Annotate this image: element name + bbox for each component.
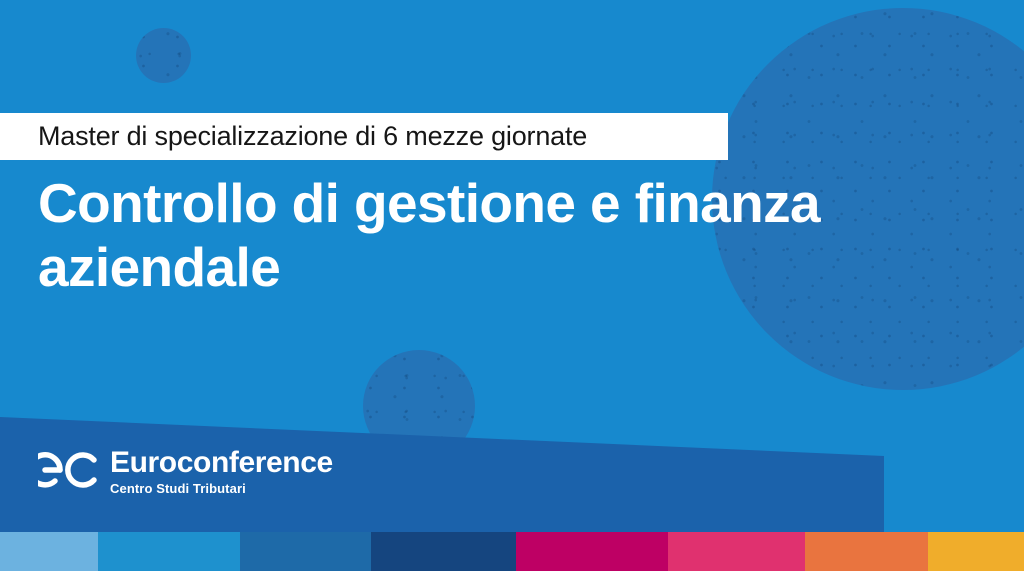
color-swatch-pink xyxy=(668,532,805,571)
color-swatch-medium-blue xyxy=(240,532,371,571)
course-title: Controllo di gestione e finanza aziendal… xyxy=(38,172,918,300)
course-promo-banner: Master di specializzazione di 6 mezze gi… xyxy=(0,0,1024,571)
logo-wordmark: Euroconference Centro Studi Tributari xyxy=(110,448,333,495)
subtitle-banner: Master di specializzazione di 6 mezze gi… xyxy=(0,113,728,160)
color-swatch-orange xyxy=(805,532,928,571)
ec-monogram-icon xyxy=(38,448,100,492)
circle-texture-overlay xyxy=(136,28,191,83)
brand-name: Euroconference xyxy=(110,448,333,478)
color-swatch-magenta xyxy=(516,532,668,571)
color-swatch-navy xyxy=(371,532,516,571)
brand-color-strip xyxy=(0,532,1024,571)
course-subtitle: Master di specializzazione di 6 mezze gi… xyxy=(38,121,587,152)
color-swatch-blue xyxy=(98,532,240,571)
brand-tagline: Centro Studi Tributari xyxy=(110,482,333,495)
decorative-circle-small xyxy=(136,28,191,83)
color-swatch-amber xyxy=(928,532,1024,571)
euroconference-logo: Euroconference Centro Studi Tributari xyxy=(38,448,333,495)
color-swatch-light-blue xyxy=(0,532,98,571)
